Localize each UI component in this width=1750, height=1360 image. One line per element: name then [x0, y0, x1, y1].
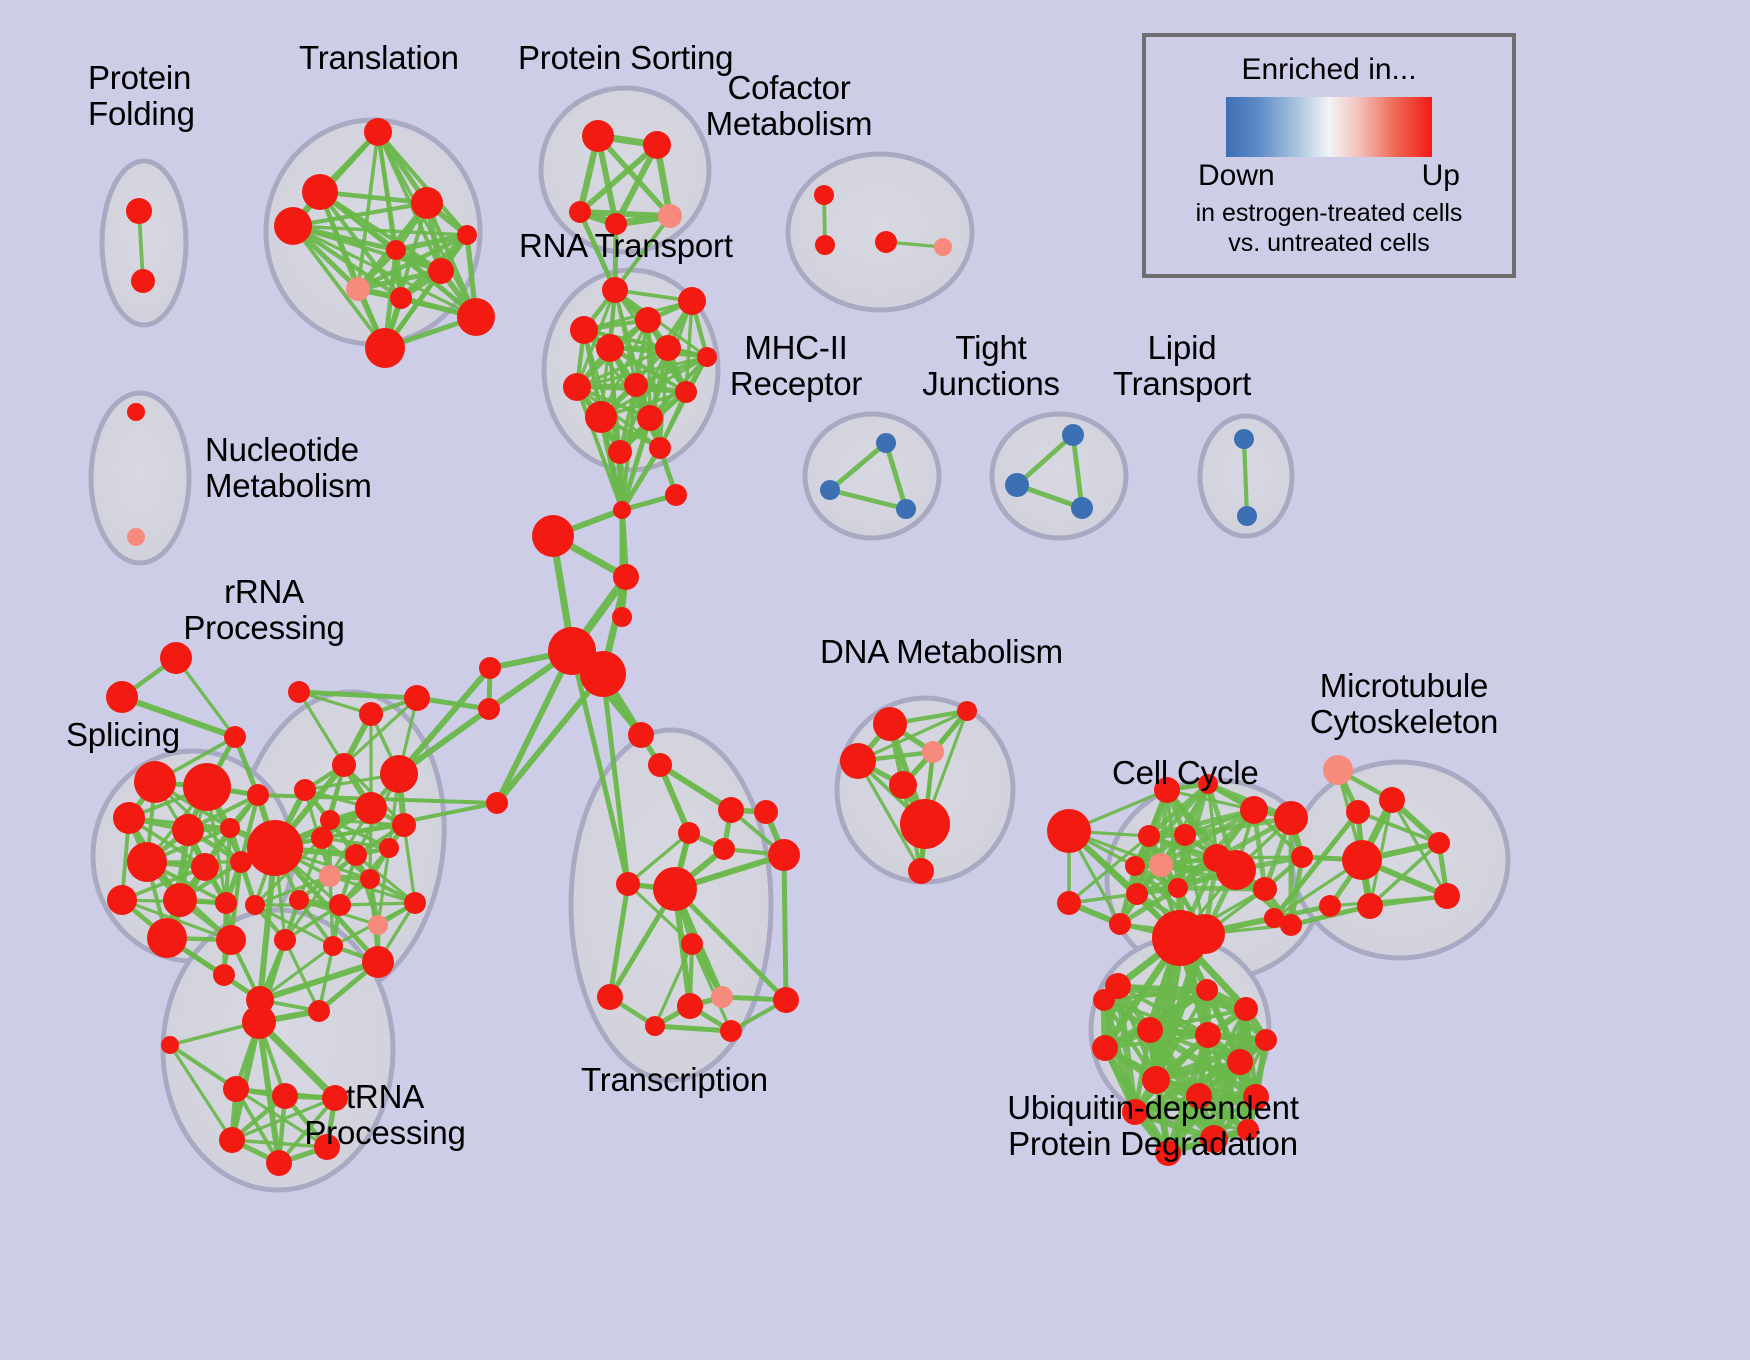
network-node[interactable]: [1137, 1017, 1163, 1043]
network-node[interactable]: [172, 814, 204, 846]
network-node[interactable]: [319, 865, 341, 887]
cluster-label-dna-metabolism: DNA Metabolism: [820, 634, 1063, 670]
network-node[interactable]: [1149, 853, 1173, 877]
network-edge: [1244, 439, 1247, 516]
network-figure: Protein FoldingTranslationProtein Sortin…: [0, 0, 1750, 1360]
cluster-hull-mhc-ii-receptor: [805, 414, 939, 538]
network-node[interactable]: [876, 433, 896, 453]
network-node[interactable]: [532, 515, 574, 557]
network-node[interactable]: [1379, 787, 1405, 813]
legend-subtitle-line1: in estrogen-treated cells: [1146, 199, 1512, 229]
network-node[interactable]: [392, 813, 416, 837]
network-node[interactable]: [713, 838, 735, 860]
network-node[interactable]: [215, 892, 237, 914]
legend-title: Enriched in...: [1146, 53, 1512, 87]
network-node[interactable]: [289, 890, 309, 910]
network-node[interactable]: [754, 800, 778, 824]
network-node[interactable]: [113, 802, 145, 834]
legend-panel: Enriched in... Down Up in estrogen-treat…: [1142, 33, 1516, 278]
network-node[interactable]: [637, 405, 663, 431]
legend-endpoints: Down Up: [1198, 159, 1460, 193]
network-node[interactable]: [1196, 979, 1218, 1001]
network-node[interactable]: [1109, 913, 1131, 935]
network-node[interactable]: [1346, 800, 1370, 824]
network-node[interactable]: [1071, 497, 1093, 519]
network-node[interactable]: [411, 187, 443, 219]
network-node[interactable]: [311, 827, 333, 849]
network-node[interactable]: [1274, 801, 1308, 835]
network-node[interactable]: [247, 784, 269, 806]
network-node[interactable]: [360, 869, 380, 889]
network-node[interactable]: [332, 753, 356, 777]
network-node[interactable]: [1126, 883, 1148, 905]
network-node[interactable]: [608, 440, 632, 464]
network-node[interactable]: [875, 231, 897, 253]
network-node[interactable]: [131, 269, 155, 293]
network-node[interactable]: [390, 287, 412, 309]
network-node[interactable]: [359, 702, 383, 726]
cluster-label-cell-cycle: Cell Cycle: [1112, 755, 1259, 791]
network-node[interactable]: [1357, 893, 1383, 919]
network-node[interactable]: [106, 681, 138, 713]
network-node[interactable]: [216, 925, 246, 955]
network-node[interactable]: [1253, 877, 1277, 901]
network-node[interactable]: [147, 918, 187, 958]
network-node[interactable]: [1319, 895, 1341, 917]
network-node[interactable]: [404, 685, 430, 711]
cluster-label-lipid-transport: Lipid Transport: [307, 330, 1750, 401]
cluster-label-splicing: Splicing: [66, 717, 180, 753]
network-node[interactable]: [288, 681, 310, 703]
network-node[interactable]: [613, 501, 631, 519]
network-node[interactable]: [616, 872, 640, 896]
network-node[interactable]: [1138, 825, 1160, 847]
network-node[interactable]: [922, 741, 944, 763]
network-node[interactable]: [648, 753, 672, 777]
network-node[interactable]: [1185, 914, 1225, 954]
legend-subtitle: in estrogen-treated cells vs. untreated …: [1146, 199, 1512, 258]
legend-high-label: Up: [1422, 159, 1460, 193]
network-node[interactable]: [107, 885, 137, 915]
network-node[interactable]: [320, 810, 340, 830]
network-node[interactable]: [649, 437, 671, 459]
network-node[interactable]: [161, 1036, 179, 1054]
legend-subtitle-line2: vs. untreated cells: [1146, 229, 1512, 259]
network-node[interactable]: [1434, 883, 1460, 909]
network-node[interactable]: [678, 287, 706, 315]
network-node[interactable]: [486, 792, 508, 814]
network-node[interactable]: [1005, 473, 1029, 497]
network-node[interactable]: [653, 867, 697, 911]
network-node[interactable]: [224, 726, 246, 748]
network-node[interactable]: [815, 235, 835, 255]
network-node[interactable]: [191, 853, 219, 881]
network-node[interactable]: [681, 933, 703, 955]
network-node[interactable]: [678, 822, 700, 844]
network-node[interactable]: [1323, 755, 1353, 785]
network-node[interactable]: [1342, 840, 1382, 880]
network-node[interactable]: [645, 1016, 665, 1036]
network-node[interactable]: [346, 277, 370, 301]
network-node[interactable]: [908, 858, 934, 884]
network-edge: [340, 903, 415, 905]
network-node[interactable]: [1227, 1049, 1253, 1075]
network-node[interactable]: [1264, 908, 1284, 928]
network-node[interactable]: [355, 792, 387, 824]
legend-low-label: Down: [1198, 159, 1275, 193]
network-node[interactable]: [362, 946, 394, 978]
network-node[interactable]: [308, 1000, 330, 1022]
network-node[interactable]: [1093, 989, 1115, 1011]
network-node[interactable]: [127, 403, 145, 421]
network-node[interactable]: [127, 842, 167, 882]
cluster-label-microtubule-cytoskeleton: Microtubule Cytoskeleton: [529, 668, 1750, 739]
network-node[interactable]: [1291, 846, 1313, 868]
network-node[interactable]: [274, 929, 296, 951]
network-node[interactable]: [1234, 997, 1258, 1021]
network-node[interactable]: [773, 987, 799, 1013]
network-node[interactable]: [814, 185, 834, 205]
network-node[interactable]: [183, 763, 231, 811]
network-node[interactable]: [840, 743, 876, 779]
network-node[interactable]: [368, 915, 388, 935]
network-node[interactable]: [428, 258, 454, 284]
network-node[interactable]: [329, 894, 351, 916]
network-node[interactable]: [711, 986, 733, 1008]
network-node[interactable]: [302, 174, 338, 210]
network-node[interactable]: [294, 779, 316, 801]
network-node[interactable]: [665, 484, 687, 506]
legend-gradient-bar: [1226, 97, 1432, 157]
cluster-label-ubiquitin-degradation: Ubiquitin-dependent Protein Degradation: [278, 1090, 1750, 1161]
cluster-hull-cofactor-metabolism: [788, 154, 972, 310]
network-node[interactable]: [1168, 878, 1188, 898]
network-node[interactable]: [1240, 796, 1268, 824]
network-node[interactable]: [478, 698, 500, 720]
network-node[interactable]: [820, 480, 840, 500]
network-node[interactable]: [134, 761, 176, 803]
network-node[interactable]: [889, 771, 917, 799]
network-node[interactable]: [597, 984, 623, 1010]
network-edge: [784, 855, 786, 1000]
network-node[interactable]: [1062, 424, 1084, 446]
network-node[interactable]: [677, 993, 703, 1019]
network-node[interactable]: [1057, 891, 1081, 915]
network-node[interactable]: [404, 892, 426, 914]
network-node[interactable]: [1234, 429, 1254, 449]
network-node[interactable]: [718, 797, 744, 823]
network-node[interactable]: [1428, 832, 1450, 854]
network-node[interactable]: [323, 936, 343, 956]
network-node[interactable]: [602, 277, 628, 303]
network-node[interactable]: [345, 844, 367, 866]
network-node[interactable]: [479, 657, 501, 679]
network-node[interactable]: [896, 499, 916, 519]
cluster-label-rna-transport: RNA Transport: [519, 228, 733, 264]
network-node[interactable]: [1255, 1029, 1277, 1051]
network-node[interactable]: [242, 1005, 276, 1039]
network-node[interactable]: [934, 238, 952, 256]
cluster-label-nucleotide-metabolism: Nucleotide Metabolism: [205, 432, 372, 503]
network-node[interactable]: [768, 839, 800, 871]
network-node[interactable]: [1047, 809, 1091, 853]
network-node[interactable]: [585, 401, 617, 433]
network-node[interactable]: [1174, 824, 1196, 846]
network-node[interactable]: [720, 1020, 742, 1042]
network-node[interactable]: [127, 528, 145, 546]
network-node[interactable]: [213, 964, 235, 986]
network-node[interactable]: [1203, 844, 1231, 872]
network-node[interactable]: [1125, 856, 1145, 876]
network-node[interactable]: [380, 755, 418, 793]
network-node[interactable]: [379, 838, 399, 858]
network-node[interactable]: [126, 198, 152, 224]
network-node[interactable]: [1195, 1022, 1221, 1048]
network-node[interactable]: [386, 240, 406, 260]
network-node[interactable]: [160, 642, 192, 674]
network-node[interactable]: [457, 225, 477, 245]
network-node[interactable]: [1237, 506, 1257, 526]
network-node[interactable]: [220, 818, 240, 838]
network-node[interactable]: [163, 883, 197, 917]
network-node[interactable]: [1092, 1035, 1118, 1061]
network-node[interactable]: [900, 799, 950, 849]
network-node[interactable]: [569, 201, 591, 223]
network-node[interactable]: [245, 895, 265, 915]
network-node[interactable]: [274, 207, 312, 245]
network-node[interactable]: [247, 820, 303, 876]
network-node[interactable]: [658, 204, 682, 228]
cluster-hull-protein-folding: [102, 161, 186, 325]
